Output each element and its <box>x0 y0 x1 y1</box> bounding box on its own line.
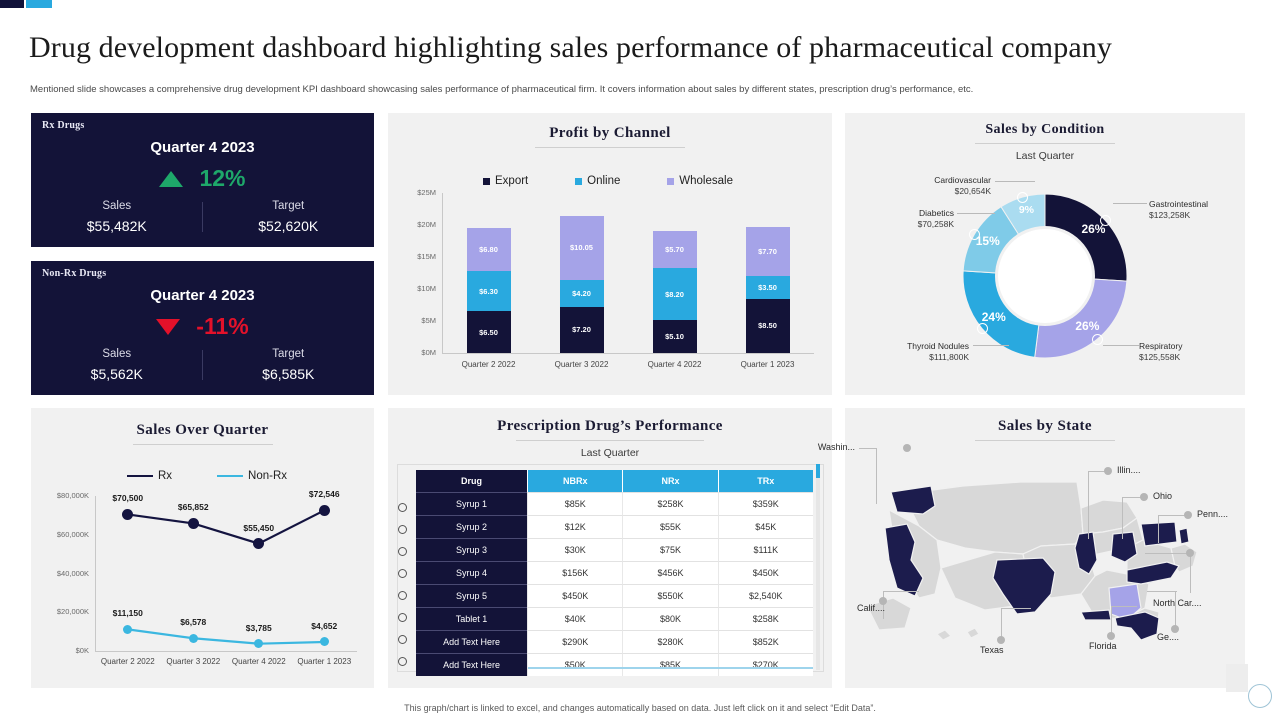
row-radio-button[interactable] <box>398 613 407 622</box>
data-point-label: $4,652 <box>290 621 358 631</box>
accent-bar-navy <box>0 0 24 8</box>
kpi-delta-group: 12% <box>31 165 374 192</box>
table-cell-drug: Syrup 4 <box>416 561 527 584</box>
bar-segment-online: $8.20 <box>653 268 697 320</box>
kpi-sales-label: Sales <box>31 348 203 360</box>
kpi-target-block: Target $6,585K <box>203 348 375 382</box>
table-row[interactable]: Add Text Here$290K$280K$852K <box>416 630 813 653</box>
map-leader-line <box>1175 591 1176 629</box>
donut-leader-line <box>957 213 995 214</box>
kpi-card-rx-drugs[interactable]: Rx Drugs Quarter 4 2023 12% Sales $55,48… <box>31 113 374 247</box>
bar-y-tick: $15M <box>390 252 436 261</box>
map-label-florida: Florida <box>1089 641 1117 651</box>
donut-callout-cardiovascular: Cardiovascular$20,654K <box>934 175 991 197</box>
table-cell-value: $550K <box>622 584 717 607</box>
bar-segment-online: $6.30 <box>467 271 511 311</box>
table-cell-value: $111K <box>718 538 813 561</box>
condition-name: Diabetics <box>918 208 954 219</box>
line-y-tick: $20,000K <box>33 607 89 616</box>
footer-note: This graph/chart is linked to excel, and… <box>0 703 1280 713</box>
bar-x-tick: Quarter 3 2022 <box>537 360 627 369</box>
legend-label: Online <box>587 175 620 187</box>
legend-item-non-rx[interactable]: Non-Rx <box>217 470 287 482</box>
condition-value: $123,258K <box>1149 210 1208 221</box>
table-row[interactable]: Add Text Here$50K$85K$270K <box>416 653 813 676</box>
kpi-delta-group: -11% <box>31 313 374 340</box>
kpi-card-quarter: Quarter 4 2023 <box>31 287 374 304</box>
table-cell-value: $270K <box>718 653 813 676</box>
table-header-nbrx[interactable]: NBRx <box>527 470 622 492</box>
line-y-tick: $60,000K <box>33 530 89 539</box>
condition-value: $111,800K <box>907 352 969 363</box>
bar-x-axis <box>442 353 814 354</box>
line-x-axis <box>95 651 357 652</box>
table-cell-value: $12K <box>527 515 622 538</box>
line-y-tick: $40,000K <box>33 569 89 578</box>
kpi-percent: -11% <box>196 313 248 340</box>
table-cell-value: $30K <box>527 538 622 561</box>
map-callout-dot[interactable] <box>1104 467 1112 475</box>
table-row[interactable]: Syrup 1$85K$258K$359K <box>416 492 813 515</box>
table-cell-value: $258K <box>718 607 813 630</box>
bar-segment-online: $3.50 <box>746 276 790 298</box>
state-new-jersey <box>1179 528 1189 544</box>
panel-sales-by-state: Sales by State <box>845 408 1245 688</box>
accent-bar-cyan <box>26 0 52 8</box>
donut-leader-line <box>1103 345 1139 346</box>
row-radio-button[interactable] <box>398 503 407 512</box>
state-pennsylvania <box>1141 522 1177 546</box>
bar-y-tick: $25M <box>390 188 436 197</box>
title-divider <box>133 444 273 445</box>
title-divider <box>516 440 704 441</box>
sales-over-quarter-title: Sales Over Quarter <box>31 422 374 439</box>
kpi-sales-block: Sales $5,562K <box>31 348 203 382</box>
table-cell-drug: Syrup 1 <box>416 492 527 515</box>
legend-line-icon <box>217 475 243 477</box>
line-x-tick: Quarter 2 2022 <box>92 657 164 666</box>
bar-segment-wholesale: $10.05 <box>560 216 604 280</box>
table-cell-value: $456K <box>622 561 717 584</box>
data-point-label: $6,578 <box>159 617 227 627</box>
condition-name: Cardiovascular <box>934 175 991 186</box>
map-leader-line <box>1111 606 1137 607</box>
condition-name: Gastrointestinal <box>1149 199 1208 210</box>
bar-value-label: $8.50 <box>758 321 777 330</box>
table-cell-value: $85K <box>622 653 717 676</box>
bar-stack[interactable]: $7.20$4.20$10.05 <box>560 193 604 353</box>
bar-segment-export: $7.20 <box>560 307 604 353</box>
donut-leader-line <box>995 181 1035 182</box>
kpi-footer: Sales $55,482K Target $52,620K <box>31 200 374 234</box>
table-header-row: DrugNBRxNRxTRx <box>416 470 813 492</box>
bar-segment-wholesale: $7.70 <box>746 227 790 276</box>
legend-label: Non-Rx <box>248 470 287 482</box>
table-cell-value: $75K <box>622 538 717 561</box>
line-x-tick: Quarter 1 2023 <box>288 657 360 666</box>
bar-value-label: $7.20 <box>572 325 591 334</box>
map-leader-line <box>1147 591 1177 592</box>
table-cell-value: $50K <box>527 653 622 676</box>
legend-item-wholesale[interactable]: Wholesale <box>667 175 733 187</box>
condition-value: $20,654K <box>934 186 991 197</box>
map-label-north-carolina: North Car.... <box>1153 598 1202 608</box>
bar-x-tick: Quarter 2 2022 <box>444 360 534 369</box>
row-radio-button[interactable] <box>398 547 407 556</box>
bar-value-label: $6.50 <box>479 328 498 337</box>
line-y-tick: $80,000K <box>33 491 89 500</box>
table-cell-drug: Syrup 5 <box>416 584 527 607</box>
map-callout-dot[interactable] <box>1186 549 1194 557</box>
table-cell-value: $852K <box>718 630 813 653</box>
map-leader-line <box>1158 515 1159 543</box>
kpi-target-value: $52,620K <box>203 218 375 234</box>
line-x-tick: Quarter 3 2022 <box>157 657 229 666</box>
line-chart-legend: RxNon-Rx <box>127 470 287 482</box>
map-leader-line <box>1122 497 1123 539</box>
kpi-footer: Sales $5,562K Target $6,585K <box>31 348 374 382</box>
bar-value-label: $6.80 <box>479 245 498 254</box>
panel-sales-by-condition: Sales by Condition Last Quarter 26%26%24… <box>845 113 1245 395</box>
row-radio-button[interactable] <box>398 635 407 644</box>
kpi-sales-label: Sales <box>31 200 203 212</box>
bar-stack[interactable]: $5.10$8.20$5.70 <box>653 193 697 353</box>
kpi-card-quarter: Quarter 4 2023 <box>31 139 374 156</box>
map-callout-dot[interactable] <box>1140 493 1148 501</box>
donut-leader-line <box>973 345 1009 346</box>
top-accent-bars <box>0 0 1280 8</box>
map-label-california: Calif.... <box>857 603 885 613</box>
table-cell-value: $359K <box>718 492 813 515</box>
donut-percent-label: 24% <box>978 310 1010 324</box>
bar-value-label: $7.70 <box>758 247 777 256</box>
bar-segment-export: $6.50 <box>467 311 511 353</box>
bar-segment-wholesale: $5.70 <box>653 231 697 267</box>
table-cell-value: $450K <box>527 584 622 607</box>
kpi-sales-value: $55,482K <box>31 218 203 234</box>
donut-percent-label: 26% <box>1071 319 1103 333</box>
map-label-washington: Washin... <box>818 442 859 452</box>
bar-chart-legend: ExportOnlineWholesale <box>483 175 733 187</box>
panel-profit-by-channel: Profit by Channel ExportOnlineWholesale … <box>388 113 832 395</box>
table-cell-value: $2,540K <box>718 584 813 607</box>
map-leader-line <box>1190 553 1191 593</box>
map-leader-line <box>1088 471 1089 539</box>
table-cell-value: $45K <box>718 515 813 538</box>
table-bottom-accent <box>528 667 813 669</box>
map-leader-line <box>876 448 877 504</box>
table-row[interactable]: Syrup 4$156K$456K$450K <box>416 561 813 584</box>
table-scrollbar-thumb[interactable] <box>816 464 820 478</box>
kpi-percent: 12% <box>199 165 245 192</box>
table-header-drug[interactable]: Drug <box>416 470 527 492</box>
table-row[interactable]: Syrup 5$450K$550K$2,540K <box>416 584 813 607</box>
data-point-label: $65,852 <box>159 502 227 512</box>
row-radio-button[interactable] <box>398 591 407 600</box>
donut-leader-line <box>1113 203 1147 204</box>
bar-value-label: $8.20 <box>665 290 684 299</box>
legend-swatch-icon <box>667 178 674 185</box>
row-radio-button[interactable] <box>398 569 407 578</box>
map-leader-line <box>1145 553 1191 554</box>
data-point-non-rx[interactable] <box>189 634 198 643</box>
data-point-label: $11,150 <box>94 608 162 618</box>
map-leader-line <box>1001 608 1031 609</box>
line-chart-plot: $0K$20,000K$40,000K$60,000K$80,000K$70,5… <box>95 496 357 651</box>
table-cell-value: $55K <box>622 515 717 538</box>
legend-item-export[interactable]: Export <box>483 175 528 187</box>
bar-y-axis <box>442 193 443 353</box>
legend-label: Export <box>495 175 528 187</box>
page-subtitle: Mentioned slide showcases a comprehensiv… <box>30 84 1260 96</box>
bar-segment-export: $8.50 <box>746 299 790 353</box>
donut-callout-respiratory: Respiratory$125,558K <box>1139 341 1182 363</box>
map-label-ohio: Ohio <box>1153 491 1172 501</box>
profit-by-channel-title: Profit by Channel <box>388 125 832 142</box>
line-x-tick: Quarter 4 2022 <box>223 657 295 666</box>
table-cell-drug: Syrup 3 <box>416 538 527 561</box>
row-radio-button[interactable] <box>398 525 407 534</box>
table-header-trx[interactable]: TRx <box>718 470 813 492</box>
map-label-pennsylvania: Penn.... <box>1197 509 1228 519</box>
data-point-label: $70,500 <box>94 493 162 503</box>
map-label-georgia: Ge.... <box>1157 632 1179 642</box>
table-cell-drug: Tablet 1 <box>416 607 527 630</box>
map-label-texas: Texas <box>980 645 1004 655</box>
state-florida-panhandle <box>1081 610 1111 620</box>
kpi-target-label: Target <box>203 348 375 360</box>
table-row[interactable]: Syrup 3$30K$75K$111K <box>416 538 813 561</box>
line-y-tick: $0K <box>33 646 89 655</box>
data-point-label: $72,546 <box>290 489 358 499</box>
map-callout-dot[interactable] <box>903 444 911 452</box>
condition-value: $70,258K <box>918 219 954 230</box>
table-cell-value: $280K <box>622 630 717 653</box>
table-cell-value: $80K <box>622 607 717 630</box>
legend-swatch-icon <box>575 178 582 185</box>
map-callout-dot[interactable] <box>1184 511 1192 519</box>
kpi-target-block: Target $52,620K <box>203 200 375 234</box>
data-point-rx[interactable] <box>188 518 199 529</box>
table-cell-value: $40K <box>527 607 622 630</box>
row-radio-button[interactable] <box>398 657 407 666</box>
page-title: Drug development dashboard highlighting … <box>29 31 1249 65</box>
panel-drug-performance: Prescription Drug’s Performance Last Qua… <box>388 408 832 688</box>
table-scrollbar-track[interactable] <box>816 464 820 670</box>
donut-callout-thyroid-nodules: Thyroid Nodules$111,800K <box>907 341 969 363</box>
bar-y-tick: $20M <box>390 220 436 229</box>
triangle-up-icon <box>159 171 183 187</box>
bar-y-tick: $5M <box>390 316 436 325</box>
data-point-label: $3,785 <box>225 623 293 633</box>
map-callout-dot[interactable] <box>997 636 1005 644</box>
map-leader-line <box>859 448 877 449</box>
bar-value-label: $6.30 <box>479 287 498 296</box>
kpi-card-tag: Rx Drugs <box>42 120 84 131</box>
title-divider <box>975 440 1115 441</box>
panel-sales-over-quarter: Sales Over Quarter RxNon-Rx $0K$20,000K$… <box>31 408 374 688</box>
bar-value-label: $4.20 <box>572 289 591 298</box>
bar-segment-export: $5.10 <box>653 320 697 353</box>
legend-label: Wholesale <box>679 175 733 187</box>
condition-name: Respiratory <box>1139 341 1182 352</box>
map-leader-line <box>883 591 919 592</box>
table-cell-value: $450K <box>718 561 813 584</box>
bar-segment-wholesale: $6.80 <box>467 228 511 272</box>
state-washington <box>891 486 935 514</box>
bar-stack[interactable]: $6.50$6.30$6.80 <box>467 193 511 353</box>
donut-center-hole <box>998 229 1092 323</box>
bar-y-tick: $10M <box>390 284 436 293</box>
bar-x-tick: Quarter 1 2023 <box>723 360 813 369</box>
bar-value-label: $3.50 <box>758 283 777 292</box>
kpi-target-label: Target <box>203 200 375 212</box>
data-point-label: $55,450 <box>225 523 293 533</box>
table-cell-drug: Syrup 2 <box>416 515 527 538</box>
donut-callout-diabetics: Diabetics$70,258K <box>918 208 954 230</box>
legend-swatch-icon <box>483 178 490 185</box>
legend-line-icon <box>127 475 153 477</box>
bar-value-label: $5.10 <box>665 332 684 341</box>
table-cell-drug: Add Text Here <box>416 653 527 676</box>
legend-label: Rx <box>158 470 172 482</box>
donut-callout-knob[interactable] <box>1100 215 1111 226</box>
condition-name: Thyroid Nodules <box>907 341 969 352</box>
kpi-sales-block: Sales $55,482K <box>31 200 203 234</box>
drug-performance-subtitle: Last Quarter <box>388 447 832 459</box>
corner-decoration-circle <box>1248 684 1272 708</box>
table-header-nrx[interactable]: NRx <box>622 470 717 492</box>
table-cell-value: $258K <box>622 492 717 515</box>
map-callout-dot[interactable] <box>1107 632 1115 640</box>
corner-decoration-square <box>1226 664 1248 692</box>
kpi-target-value: $6,585K <box>203 366 375 382</box>
bar-value-label: $5.70 <box>665 245 684 254</box>
title-divider <box>535 147 685 148</box>
table-row[interactable]: Tablet 1$40K$80K$258K <box>416 607 813 630</box>
condition-value: $125,558K <box>1139 352 1182 363</box>
donut-callout-gastrointestinal: Gastrointestinal$123,258K <box>1149 199 1208 221</box>
state-florida <box>1115 612 1159 640</box>
bar-value-label: $10.05 <box>570 243 593 252</box>
bar-y-tick: $0M <box>390 348 436 357</box>
table-cell-value: $85K <box>527 492 622 515</box>
kpi-card-tag: Non-Rx Drugs <box>42 268 106 279</box>
table-cell-drug: Add Text Here <box>416 630 527 653</box>
legend-item-online[interactable]: Online <box>575 175 620 187</box>
bar-x-tick: Quarter 4 2022 <box>630 360 720 369</box>
table-cell-value: $156K <box>527 561 622 584</box>
bar-stack[interactable]: $8.50$3.50$7.70 <box>746 193 790 353</box>
table-cell-value: $290K <box>527 630 622 653</box>
sales-by-state-title: Sales by State <box>845 418 1245 435</box>
kpi-card-non-rx-drugs[interactable]: Non-Rx Drugs Quarter 4 2023 -11% Sales $… <box>31 261 374 395</box>
table-row[interactable]: Syrup 2$12K$55K$45K <box>416 515 813 538</box>
drug-performance-table[interactable]: DrugNBRxNRxTRxSyrup 1$85K$258K$359KSyrup… <box>416 470 813 676</box>
bar-segment-online: $4.20 <box>560 280 604 307</box>
drug-performance-title: Prescription Drug’s Performance <box>388 418 832 435</box>
triangle-down-icon <box>156 319 180 335</box>
data-point-rx[interactable] <box>319 505 330 516</box>
donut-chart-area: 26%26%24%15%9%Gastrointestinal$123,258KR… <box>845 113 1245 395</box>
map-label-illinois: Illin.... <box>1117 465 1141 475</box>
legend-item-rx[interactable]: Rx <box>127 470 172 482</box>
donut-percent-label: 9% <box>1010 204 1042 216</box>
kpi-sales-value: $5,562K <box>31 366 203 382</box>
bar-chart-plot: $0M$5M$10M$15M$20M$25M$6.50$6.30$6.80Qua… <box>442 193 814 353</box>
